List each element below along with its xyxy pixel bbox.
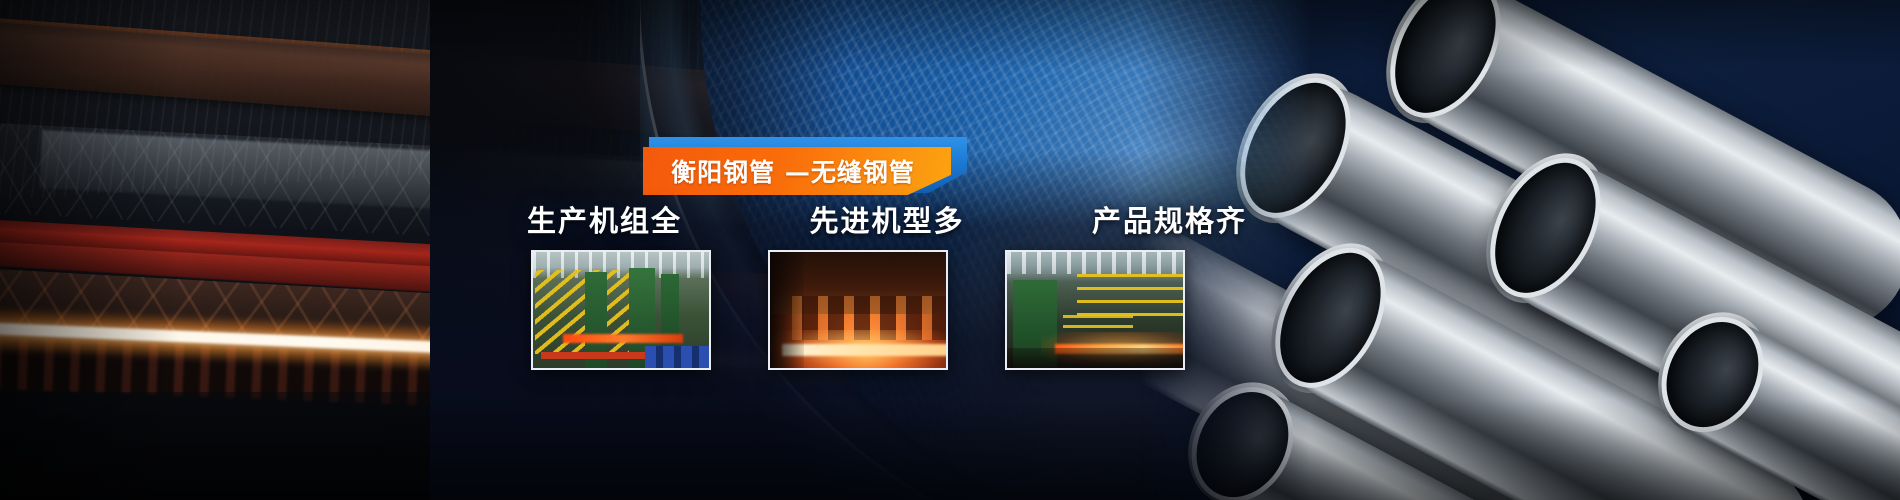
thumbnail-steel-workshop-billet[interactable]	[1005, 250, 1185, 370]
tagline-item-3: 产品规格齐	[1092, 198, 1247, 240]
tagline-item-1: 生产机组全	[527, 198, 682, 240]
tagline: 生产机组全 先进机型多 产品规格齐	[527, 198, 1247, 240]
top-vignette	[0, 0, 1900, 70]
thumbnail-hot-rolling-furnace[interactable]	[768, 250, 948, 370]
badge-label: 衡阳钢管 —无缝钢管	[671, 153, 923, 189]
tagline-item-2: 先进机型多	[809, 198, 964, 240]
thumbnail-rolling-mill-line[interactable]	[531, 250, 711, 370]
thumbnail-strip	[531, 250, 1185, 370]
bottom-vignette	[0, 400, 1900, 500]
badge-orange-plate: 衡阳钢管 —无缝钢管	[643, 147, 951, 195]
hero-banner: 衡阳钢管 —无缝钢管 生产机组全 先进机型多 产品规格齐	[0, 0, 1900, 500]
